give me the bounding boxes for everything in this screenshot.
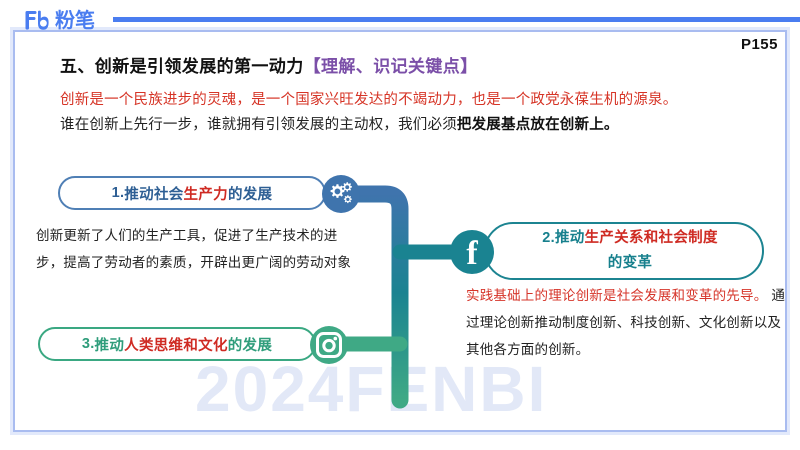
page-title: 五、创新是引领发展的第一动力【理解、识记关键点】 xyxy=(60,52,478,77)
node-3-post: 的发展 xyxy=(228,334,272,355)
node-2-index: 2. xyxy=(542,230,555,246)
node-3-pre: 推动 xyxy=(95,334,125,355)
page-number: P155 xyxy=(741,36,778,53)
facebook-f-glyph: f xyxy=(466,237,477,271)
header-rule xyxy=(113,17,800,22)
node-2-pre: 推动 xyxy=(555,230,585,246)
slide-canvas: 2024FENBI 粉笔 P155 五、创新是引领发展的第一动力【理解、识记关键… xyxy=(0,0,800,450)
intro-line2-bold: 把发展基点放在创新上。 xyxy=(457,117,619,133)
intro-line2-normal: 谁在创新上先行一步，谁就拥有引领发展的主动权，我们必须 xyxy=(60,117,457,133)
brand-logo: 粉笔 xyxy=(24,10,95,31)
camera-instagram-icon xyxy=(310,326,348,364)
intro-line-2: 谁在创新上先行一步，谁就拥有引领发展的主动权，我们必须把发展基点放在创新上。 xyxy=(60,113,760,138)
page-title-main: 五、创新是引领发展的第一动力 xyxy=(60,57,304,76)
fb-logo-icon xyxy=(24,10,50,31)
node-1-body: 创新更新了人们的生产工具，促进了生产技术的进步，提高了劳动者的素质，开辟出更广阔… xyxy=(36,222,356,276)
intro-paragraph: 创新是一个民族进步的灵魂，是一个国家兴旺发达的不竭动力，也是一个政党永葆生机的源… xyxy=(60,88,760,138)
page-title-bracket: 【理解、识记关键点】 xyxy=(304,57,478,76)
node-pill-2[interactable]: 2.推动生产关系和社会制度 的变革 xyxy=(484,222,764,280)
intro-line-red: 创新是一个民族进步的灵魂，是一个国家兴旺发达的不竭动力，也是一个政党永葆生机的源… xyxy=(60,92,677,108)
node-2-line-2: 的变革 xyxy=(608,251,652,276)
node-1-highlight: 生产力 xyxy=(184,183,228,204)
node-3-index: 3. xyxy=(82,336,95,352)
node-1-pre: 推动社会 xyxy=(124,183,183,204)
node-pill-1[interactable]: 1.推动社会生产力的发展 xyxy=(58,176,326,210)
node-2-body-red: 实践基础上的理论创新是社会发展和变革的先导。 xyxy=(466,288,767,303)
node-1-index: 1. xyxy=(112,185,125,201)
node-1-body-text: 创新更新了人们的生产工具，促进了生产技术的进步，提高了劳动者的素质，开辟出更广阔… xyxy=(36,228,351,270)
node-2-body: 实践基础上的理论创新是社会发展和变革的先导。 通过理论创新推动制度创新、科技创新… xyxy=(466,282,786,363)
facebook-f-icon: f xyxy=(450,230,494,274)
node-2-highlight: 生产关系和社会制度 xyxy=(585,230,718,246)
brand-logo-text: 粉笔 xyxy=(55,11,95,31)
node-3-highlight: 人类思维和文化 xyxy=(124,334,228,355)
node-2-line-1: 2.推动生产关系和社会制度 xyxy=(542,226,718,251)
node-1-post: 的发展 xyxy=(228,183,272,204)
gears-icon xyxy=(322,175,360,213)
node-pill-3[interactable]: 3.推动人类思维和文化的发展 xyxy=(38,327,316,361)
